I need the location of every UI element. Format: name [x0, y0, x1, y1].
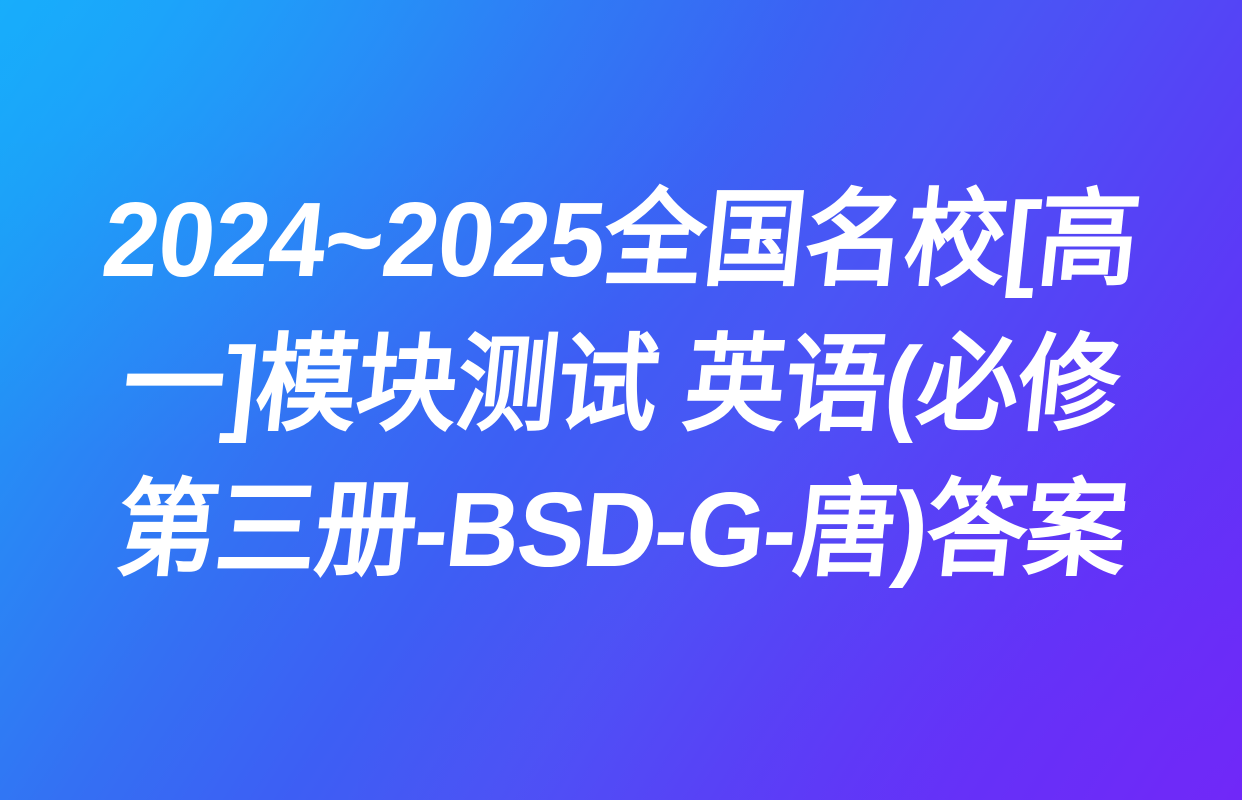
answer-banner: 2024~2025全国名校[高 一]模块测试 英语(必修 第三册-BSD-G-唐… — [0, 0, 1242, 800]
headline-line-1: 2024~2025全国名校[高 — [70, 168, 1172, 313]
headline-block: 2024~2025全国名校[高 一]模块测试 英语(必修 第三册-BSD-G-唐… — [0, 168, 1242, 603]
headline-line-2: 一]模块测试 英语(必修 — [70, 313, 1172, 458]
headline-line-3: 第三册-BSD-G-唐)答案 — [70, 458, 1172, 603]
